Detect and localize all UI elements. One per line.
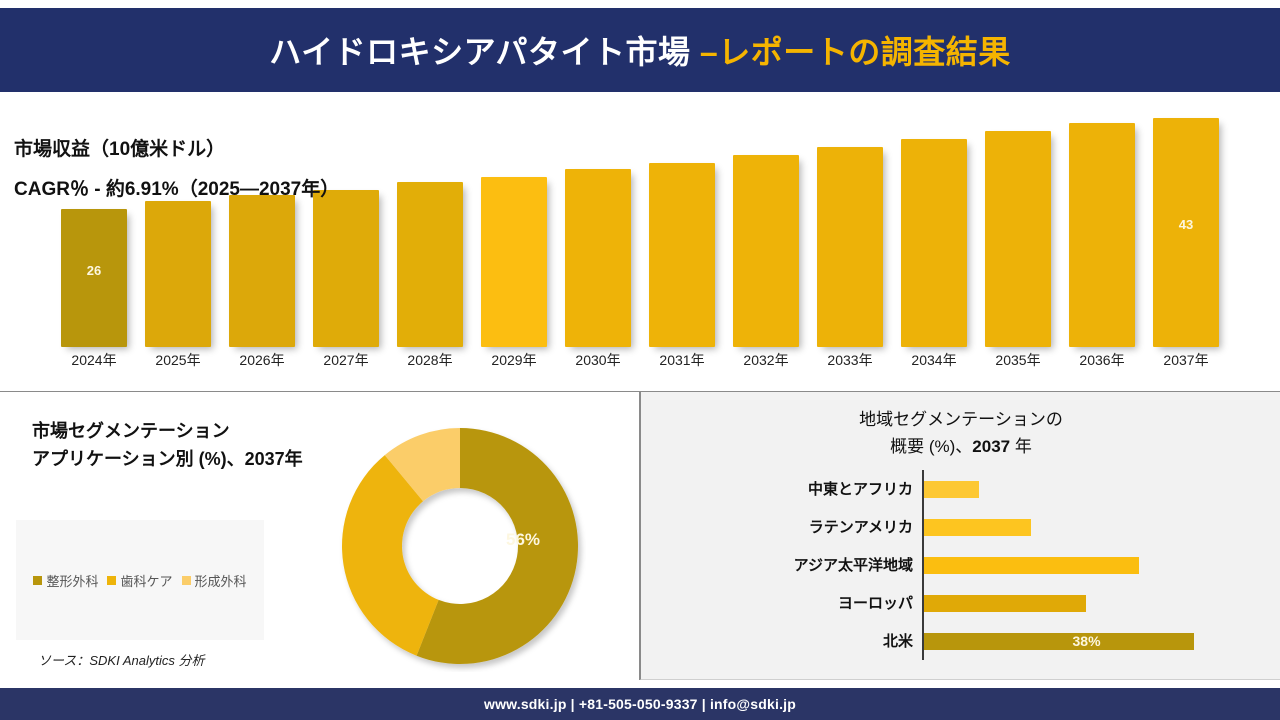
regional-segmentation-title: 地域セグメンテーションの 概要 (%)、2037 年 [641, 406, 1280, 460]
regional-bars-plot: 中東とアフリカラテンアメリカアジア太平洋地域ヨーロッパ北米38% [741, 470, 1241, 660]
cagr-label: CAGR％ - 約6.91%（2025―2037年） [14, 174, 339, 201]
legend-item-歯科ケア[interactable]: 歯科ケア [107, 571, 172, 590]
x-axis-label-2025年: 2025年 [134, 350, 222, 370]
regional-bar-rect [924, 481, 979, 498]
application-segmentation-title: 市場セグメンテーション アプリケーション別 (%)、2037年 [32, 418, 362, 474]
x-axis-label-2031年: 2031年 [638, 350, 726, 370]
x-axis-label-2035年: 2035年 [974, 350, 1062, 370]
legend-item-形成外科[interactable]: 形成外科 [182, 571, 247, 590]
revenue-bar-2029年 [481, 102, 547, 347]
regional-bar-rect [924, 595, 1086, 612]
bar-rect [985, 131, 1051, 347]
revenue-bar-2036年 [1069, 102, 1135, 347]
revenue-bar-2031年 [649, 102, 715, 347]
x-axis-label-2034年: 2034年 [890, 350, 978, 370]
regional-row-北米: 北米38% [741, 622, 1241, 660]
regional-title-line-2: 概要 (%)、2037 年 [641, 433, 1280, 460]
application-title-line-1: 市場セグメンテーション [32, 418, 362, 446]
market-revenue-label: 市場収益（10億米ドル） [14, 134, 339, 161]
page-title: ハイドロキシアパタイト市場 –レポートの調査結果 [269, 27, 1010, 73]
bar-rect [481, 177, 547, 347]
x-axis-label-2027年: 2027年 [302, 350, 390, 370]
page-title-main: ハイドロキシアパタイト市場 [269, 34, 700, 70]
legend-label: 歯科ケア [120, 571, 172, 590]
legend-swatch-icon [107, 576, 116, 585]
x-axis-label-2036年: 2036年 [1058, 350, 1146, 370]
revenue-bar-2035年 [985, 102, 1051, 347]
revenue-bar-2032年 [733, 102, 799, 347]
regional-title-line-1: 地域セグメンテーションの [641, 406, 1280, 433]
donut-primary-value: 56% [506, 530, 540, 550]
application-donut-chart: 56% [334, 420, 586, 672]
bar-rect [565, 169, 631, 347]
bar-rect [649, 163, 715, 347]
bar-rect [145, 201, 211, 347]
regional-label: ヨーロッパ [741, 592, 913, 613]
revenue-bar-2028年 [397, 102, 463, 347]
regional-bar-rect [924, 519, 1031, 536]
regional-label: 北米 [741, 630, 913, 651]
kpi-block: 市場収益（10億米ドル） CAGR％ - 約6.91%（2025―2037年） [14, 134, 339, 214]
regional-bar-value-label: 38% [1073, 633, 1101, 650]
regional-segmentation-panel: 地域セグメンテーションの 概要 (%)、2037 年 中東とアフリカラテンアメリ… [640, 392, 1280, 680]
bar-rect [901, 139, 967, 347]
legend-swatch-icon [33, 576, 42, 585]
bar-rect [397, 182, 463, 347]
regional-row-アジア太平洋地域: アジア太平洋地域 [741, 546, 1241, 584]
regional-row-ヨーロッパ: ヨーロッパ [741, 584, 1241, 622]
x-axis-label-2026年: 2026年 [218, 350, 306, 370]
footer-contact-text[interactable]: www.sdki.jp | +81-505-050-9337 | info@sd… [484, 696, 796, 712]
x-axis-label-2030年: 2030年 [554, 350, 642, 370]
x-axis-label-2029年: 2029年 [470, 350, 558, 370]
revenue-bar-2037年: 43 [1153, 102, 1219, 347]
legend-item-整形外科[interactable]: 整形外科 [33, 571, 98, 590]
header-banner: ハイドロキシアパタイト市場 –レポートの調査結果 [0, 8, 1280, 92]
revenue-chart-section: 市場収益（10億米ドル） CAGR％ - 約6.91%（2025―2037年） … [0, 92, 1280, 392]
bar-rect [1153, 118, 1219, 347]
application-title-line-2: アプリケーション別 (%)、2037年 [32, 446, 362, 474]
bar-rect [1069, 123, 1135, 347]
x-axis-label-2024年: 2024年 [50, 350, 138, 370]
regional-row-ラテンアメリカ: ラテンアメリカ [741, 508, 1241, 546]
donut-legend: 整形外科歯科ケア形成外科 [16, 520, 264, 640]
donut-svg [334, 420, 586, 672]
revenue-bar-2033年 [817, 102, 883, 347]
legend-swatch-icon [182, 576, 191, 585]
x-axis-label-2033年: 2033年 [806, 350, 894, 370]
bar-value-label: 43 [1153, 217, 1219, 232]
regional-label: アジア太平洋地域 [741, 554, 913, 575]
x-axis-label-2032年: 2032年 [722, 350, 810, 370]
regional-row-中東とアフリカ: 中東とアフリカ [741, 470, 1241, 508]
regional-title-year: 2037 [972, 437, 1010, 456]
legend-label: 形成外科 [195, 571, 247, 590]
bar-rect [229, 195, 295, 347]
revenue-bar-2030年 [565, 102, 631, 347]
legend-label: 整形外科 [46, 571, 98, 590]
regional-title-prefix: 概要 (%)、 [890, 437, 972, 456]
regional-bar-rect [924, 557, 1139, 574]
bar-rect [733, 155, 799, 347]
footer-banner: www.sdki.jp | +81-505-050-9337 | info@sd… [0, 688, 1280, 720]
bar-rect [817, 147, 883, 347]
regional-bar-rect [924, 633, 1194, 650]
bottom-panels: 市場セグメンテーション アプリケーション別 (%)、2037年 整形外科歯科ケア… [0, 392, 1280, 680]
bar-value-label: 26 [61, 263, 127, 278]
regional-title-suffix: 年 [1010, 437, 1032, 456]
bar-rect [61, 209, 127, 347]
page-title-accent: –レポートの調査結果 [700, 34, 1011, 70]
revenue-bar-2034年 [901, 102, 967, 347]
source-note: ソース：SDKI Analytics 分析 [38, 650, 204, 669]
application-segmentation-panel: 市場セグメンテーション アプリケーション別 (%)、2037年 整形外科歯科ケア… [0, 392, 640, 680]
x-axis-label-2037年: 2037年 [1142, 350, 1230, 370]
revenue-x-axis-labels: 2024年2025年2026年2027年2028年2029年2030年2031年… [52, 350, 1228, 374]
regional-label: ラテンアメリカ [741, 516, 913, 537]
x-axis-label-2028年: 2028年 [386, 350, 474, 370]
regional-label: 中東とアフリカ [741, 478, 913, 499]
